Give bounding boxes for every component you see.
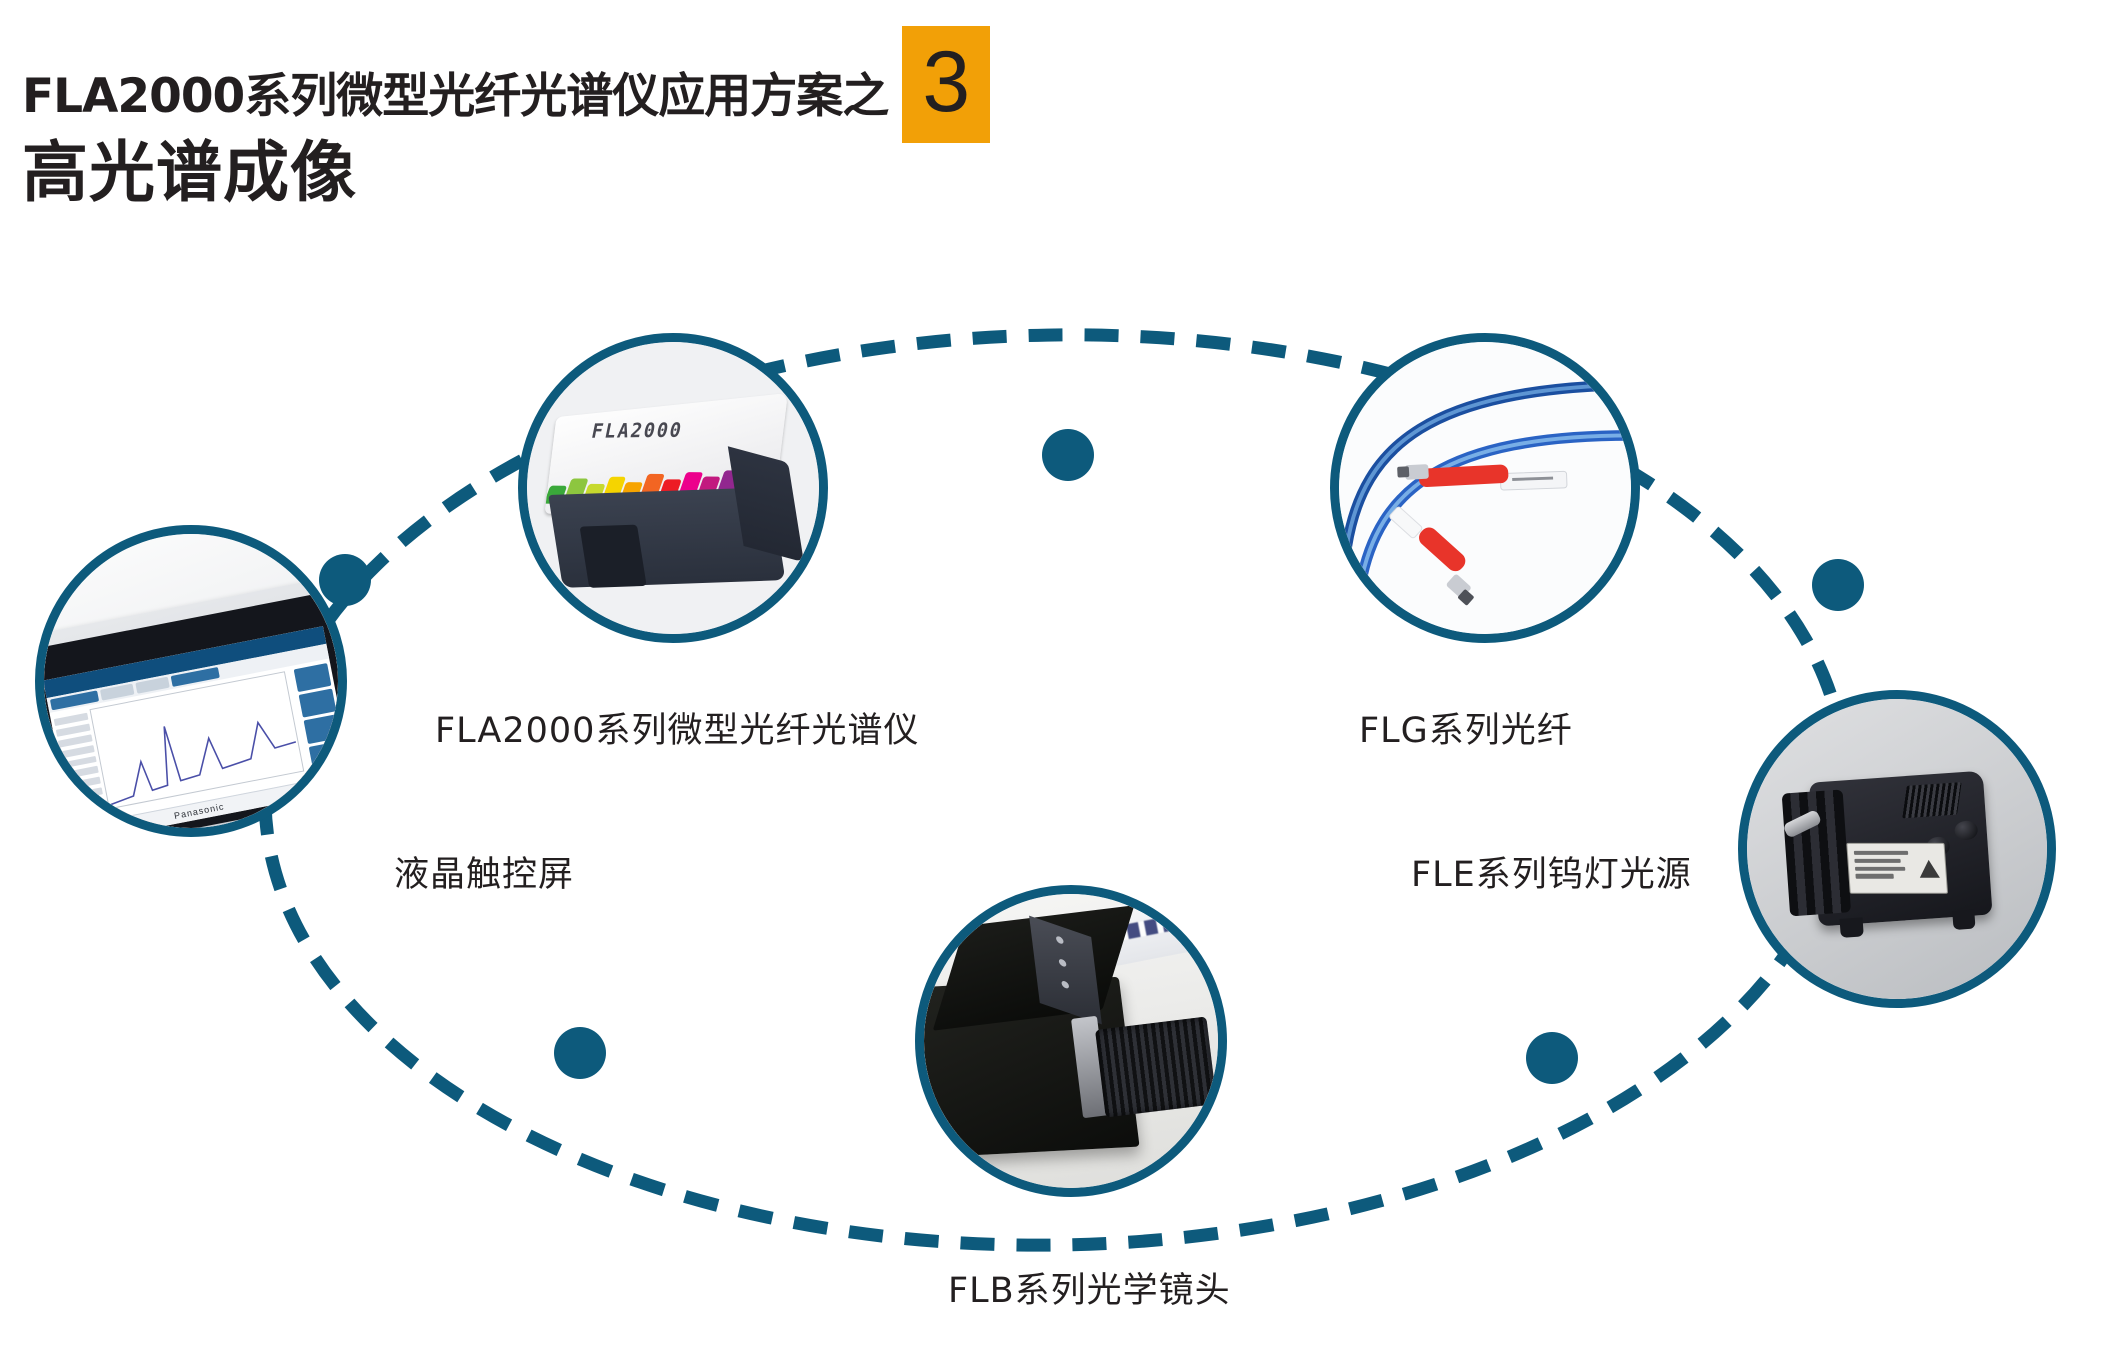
- node-touchscreen[interactable]: Panasonic: [35, 525, 347, 837]
- lamp-port-1: [1954, 820, 1978, 840]
- lamp-foot-right: [1952, 910, 1976, 930]
- spectrometer-device: FLA2000: [532, 387, 814, 606]
- lens-barrel: [1095, 1017, 1217, 1118]
- spectrometer-marking: FLA2000: [589, 418, 776, 443]
- label-fiber: FLG系列光纤: [1359, 702, 1573, 753]
- spectrometer-photo: FLA2000: [527, 342, 819, 634]
- flow-node-dot-lower-right: [1526, 1032, 1578, 1084]
- lamp-warning-label: [1846, 843, 1948, 894]
- flow-node-dot-top: [1042, 429, 1094, 481]
- warning-triangle-icon: [1918, 859, 1939, 877]
- touchscreen-photo: Panasonic: [44, 534, 338, 828]
- flow-node-dot-upper-right: [1812, 559, 1864, 611]
- label-lens: FLB系列光学镜头: [948, 1262, 1231, 1313]
- node-fiber-photo: [1339, 342, 1631, 634]
- node-lamp-photo: [1747, 699, 2047, 999]
- lamp-cooling-fins: [1782, 789, 1851, 916]
- lamp-foot-left: [1840, 918, 1864, 938]
- circular-flow-diagram: FLA2000: [0, 0, 2107, 1347]
- flow-node-dot-lower-left: [554, 1027, 606, 1079]
- spectrometer-model-text: FLA2000: [589, 419, 685, 443]
- node-fiber[interactable]: [1330, 333, 1640, 643]
- node-lens-photo: [924, 894, 1218, 1188]
- node-spectrometer[interactable]: FLA2000: [518, 333, 828, 643]
- lamp-housing: [1772, 769, 2016, 935]
- label-spectrometer: FLA2000系列微型光纤光谱仪: [435, 702, 919, 753]
- spectrometer-connector-notch: [579, 524, 646, 587]
- lamp-vent-grille: [1902, 782, 1962, 818]
- touchscreen-bezel: Panasonic: [44, 592, 338, 828]
- lamp-photo: [1747, 699, 2047, 999]
- node-lens[interactable]: [915, 885, 1227, 1197]
- node-lamp[interactable]: [1738, 690, 2056, 1008]
- node-spectrometer-photo: FLA2000: [527, 342, 819, 634]
- label-touchscreen: 液晶触控屏: [394, 846, 574, 897]
- touchscreen-display[interactable]: Panasonic: [44, 626, 338, 828]
- lens-photo: [924, 894, 1218, 1188]
- node-touchscreen-photo: Panasonic: [44, 534, 338, 828]
- touchscreen-chassis: Panasonic: [44, 575, 338, 828]
- fiber-photo: [1339, 342, 1631, 634]
- fiber-cable-illustration: [1339, 342, 1631, 634]
- label-lamp: FLE系列钨灯光源: [1411, 846, 1692, 897]
